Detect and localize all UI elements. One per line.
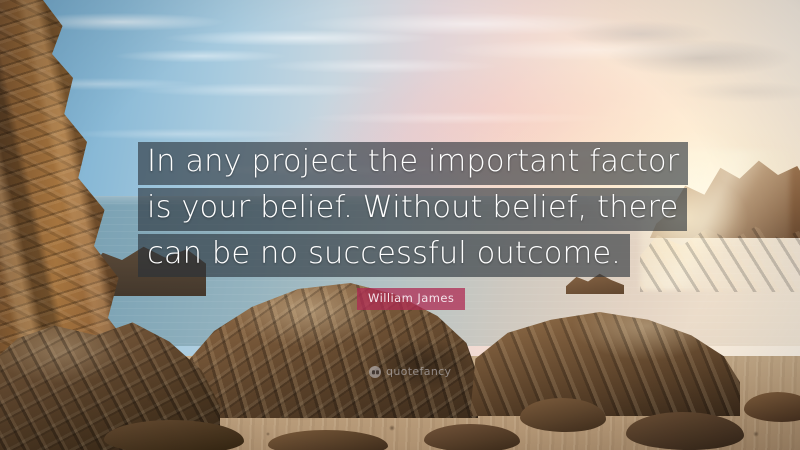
sand-rock	[744, 392, 800, 422]
quote-mark-logo-icon	[369, 366, 381, 378]
watermark-brand-text: quotefancy	[386, 366, 451, 378]
quote-line-3: can be no successful outcome.	[138, 234, 630, 277]
author-name-badge: William James	[357, 288, 465, 310]
quotefancy-watermark[interactable]: quotefancy	[369, 366, 451, 378]
quote-line-2: is your belief. Without belief, there	[138, 188, 687, 231]
quote-line-1: In any project the important factor	[138, 142, 688, 185]
quote-text-block: In any project the important factor is y…	[138, 142, 668, 277]
quote-wallpaper: In any project the important factor is y…	[0, 0, 800, 450]
